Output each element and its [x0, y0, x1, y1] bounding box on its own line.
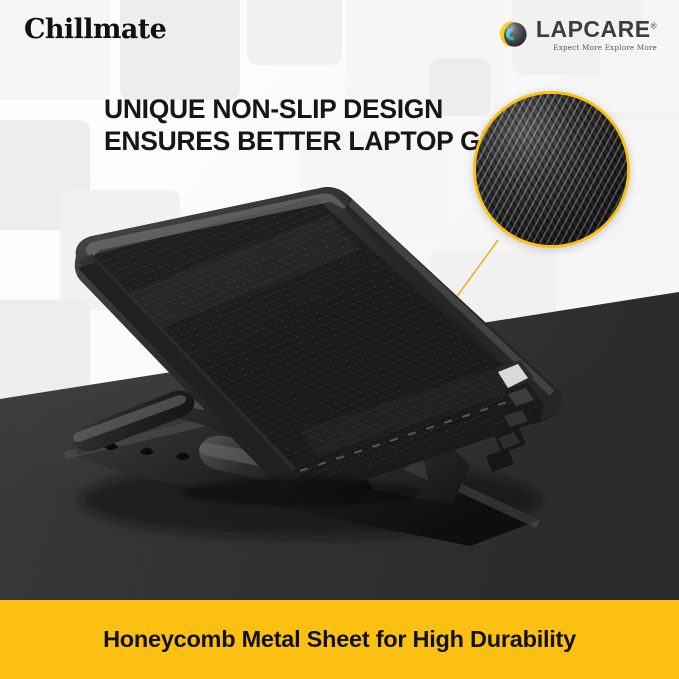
- brand-logo-chillmate: Chillmate: [24, 16, 166, 43]
- manufacturer-wordmark: LAPCARE® Expect More Explore More: [536, 18, 657, 51]
- headline-line-1: UNIQUE NON-SLIP DESIGN: [104, 94, 443, 124]
- headline-line-2: ENSURES BETTER LAPTOP GRIP: [104, 125, 524, 157]
- magnified-texture-callout: [473, 91, 630, 248]
- manufacturer-logo: LAPCARE® Expect More Explore More: [498, 18, 657, 51]
- honeycomb-texture-swatch: [473, 91, 630, 248]
- headline: UNIQUE NON-SLIP DESIGN ENSURES BETTER LA…: [104, 93, 524, 157]
- bottom-banner-text: Honeycomb Metal Sheet for High Durabilit…: [103, 626, 576, 653]
- bottom-feature-banner: Honeycomb Metal Sheet for High Durabilit…: [0, 600, 679, 679]
- manufacturer-tagline: Expect More Explore More: [536, 44, 657, 51]
- globe-swoosh-icon: [498, 19, 529, 50]
- product-marketing-image: Chillmate: [0, 0, 679, 679]
- manufacturer-name: LAPCARE®: [536, 18, 657, 41]
- manufacturer-name-text: LAPCARE: [536, 16, 651, 42]
- registered-trademark-icon: ®: [651, 21, 657, 30]
